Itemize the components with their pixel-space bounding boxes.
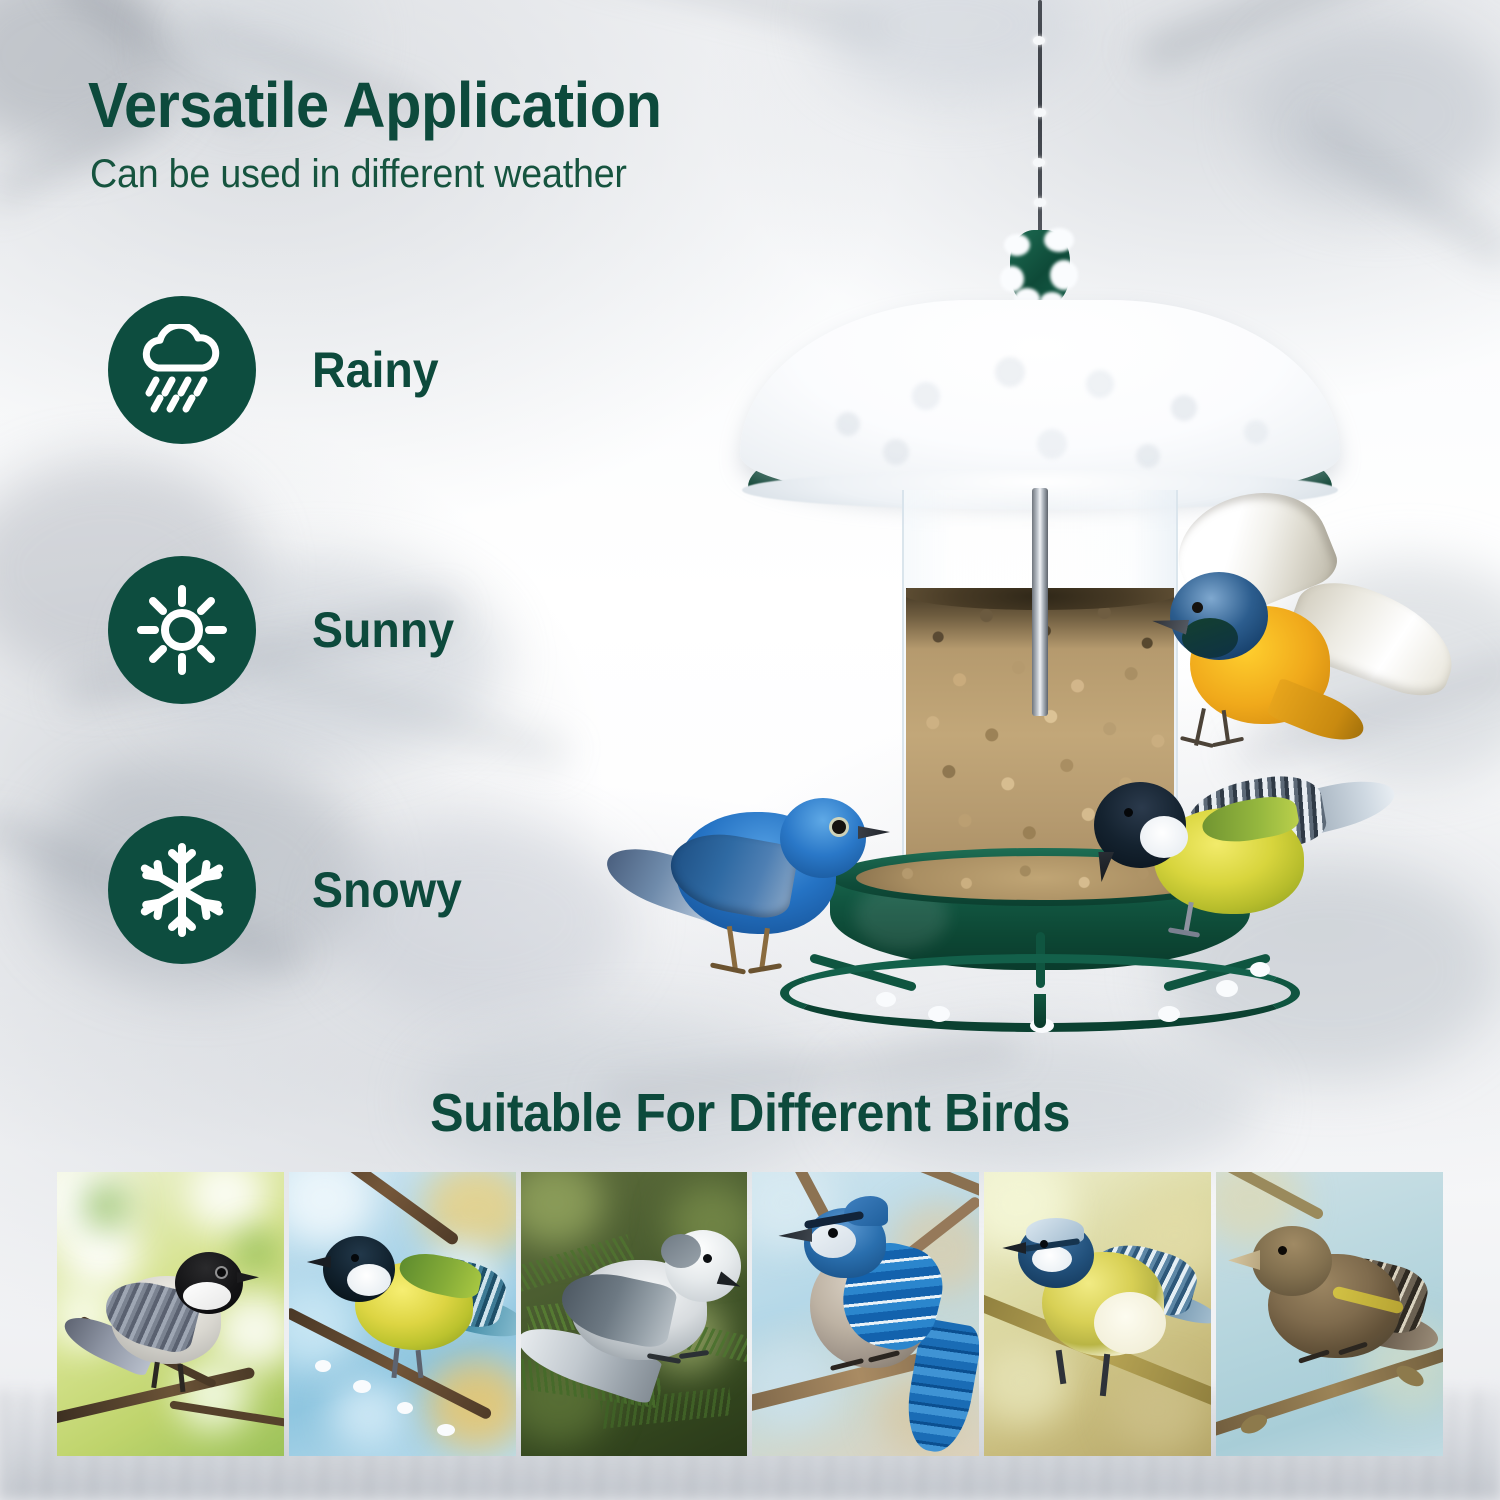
photo-frost	[397, 1402, 413, 1414]
feature-row-rainy: Rainy	[108, 296, 448, 444]
feeder-hanger	[1010, 230, 1070, 308]
center-metal-rod	[1032, 488, 1048, 716]
photo-bokeh	[83, 1184, 129, 1228]
cord-snow-fleck	[1034, 108, 1046, 117]
feature-label-rainy: Rainy	[312, 341, 439, 399]
cord-snow-fleck	[1033, 158, 1045, 167]
photo-bird-nape	[661, 1234, 701, 1268]
photo-bird-belly	[1094, 1292, 1166, 1354]
product-infographic: Versatile Application Can be used in dif…	[0, 0, 1500, 1500]
photo-bokeh	[63, 1218, 139, 1290]
feature-row-sunny: Sunny	[108, 556, 465, 704]
perch-snow	[928, 1006, 950, 1022]
bird-photo-strip	[57, 1172, 1443, 1456]
cord-snow-fleck	[1033, 36, 1045, 45]
bird-photo-finch[interactable]	[1216, 1172, 1443, 1456]
page-subtitle: Can be used in different weather	[90, 152, 627, 197]
feature-row-snowy: Snowy	[108, 816, 473, 964]
photo-bird-eye	[703, 1254, 712, 1263]
bird-photo-gray-jay[interactable]	[521, 1172, 748, 1456]
bird-photo-chickadee[interactable]	[57, 1172, 284, 1456]
sun-icon	[108, 556, 256, 704]
bird-beak	[858, 826, 890, 839]
photo-bird-eye	[351, 1254, 359, 1262]
hanger-snow	[1050, 260, 1078, 290]
photo-frost	[437, 1424, 455, 1436]
bird-photo-blue-tit[interactable]	[984, 1172, 1211, 1456]
photo-bird-crest	[844, 1196, 888, 1226]
flying-blue-and-yellow-bird	[1140, 498, 1450, 778]
bird-photo-blue-jay[interactable]	[752, 1172, 979, 1456]
bird-head	[780, 798, 866, 878]
snowflake-icon	[108, 816, 256, 964]
bird-eye	[1192, 602, 1203, 613]
hanging-tube-bird-feeder	[600, 0, 1480, 1070]
cord-snow-fleck	[1034, 198, 1046, 207]
bird-eye	[832, 820, 846, 834]
section-title: Suitable For Different Birds	[0, 1082, 1500, 1144]
feeding-great-tit	[1068, 760, 1388, 950]
photo-frost	[353, 1380, 371, 1393]
tray-drain	[1034, 994, 1046, 1028]
bird-eye	[1124, 808, 1133, 817]
photo-bird-eye	[217, 1268, 226, 1277]
bird-foot	[748, 963, 782, 974]
bird-leg	[759, 928, 770, 970]
bird-throat	[1182, 618, 1238, 658]
bird-photo-great-tit[interactable]	[289, 1172, 516, 1456]
bird-beak	[1088, 852, 1114, 882]
perch-snow	[1216, 980, 1238, 997]
photo-bird-cheek	[183, 1282, 231, 1310]
photo-frost	[315, 1360, 331, 1372]
perched-blue-bird	[606, 760, 906, 1010]
bird-foot	[710, 962, 746, 974]
snow-covered-roof	[740, 300, 1340, 506]
photo-bird-cheek	[347, 1264, 391, 1296]
hanger-snow	[1044, 228, 1074, 252]
perch-snow	[1250, 962, 1270, 977]
rain-cloud-icon	[108, 296, 256, 444]
feature-label-snowy: Snowy	[312, 861, 462, 919]
hanger-snow	[1004, 234, 1030, 256]
photo-bokeh	[236, 1232, 276, 1270]
feature-label-sunny: Sunny	[312, 601, 454, 659]
page-title: Versatile Application	[88, 68, 661, 142]
photo-bird-head	[1252, 1226, 1332, 1296]
perch-snow	[1158, 1006, 1180, 1022]
bird-cheek-patch	[1140, 816, 1188, 858]
